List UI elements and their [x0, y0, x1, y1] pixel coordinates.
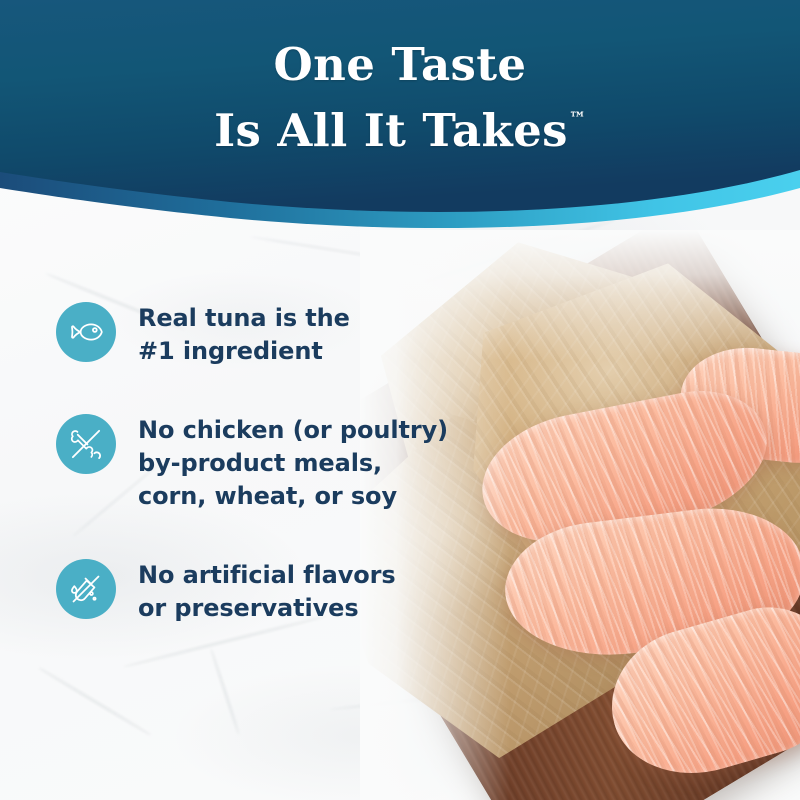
feature-item-no-artificial: No artificial flavors or preservatives [56, 557, 456, 625]
feature-line: by-product meals, [138, 447, 448, 480]
fish-icon [56, 302, 116, 362]
feature-item-no-byproduct: No chicken (or poultry) by-product meals… [56, 412, 456, 513]
no-test-tube-icon-glyph [66, 569, 106, 609]
product-feature-infographic: One Taste Is All It Takes™ Real tuna is … [0, 0, 800, 800]
fish-icon-glyph [66, 312, 106, 352]
feature-line: No artificial flavors [138, 559, 396, 592]
trademark-symbol: ™ [569, 109, 586, 129]
page-title: One Taste Is All It Takes™ [0, 38, 800, 158]
marble-vein [210, 648, 240, 734]
headline-line-2: Is All It Takes [214, 104, 568, 157]
feature-line: No chicken (or poultry) [138, 414, 448, 447]
feature-line: corn, wheat, or soy [138, 480, 448, 513]
feature-text: No chicken (or poultry) by-product meals… [138, 412, 448, 513]
header-banner: One Taste Is All It Takes™ [0, 0, 800, 240]
no-bone-icon [56, 414, 116, 474]
no-bone-icon-glyph [65, 423, 107, 465]
feature-item-real-tuna: Real tuna is the #1 ingredient [56, 300, 456, 368]
headline-line-1: One Taste [0, 38, 800, 92]
feature-text: No artificial flavors or preservatives [138, 557, 396, 625]
feature-line: Real tuna is the [138, 302, 350, 335]
feature-line: #1 ingredient [138, 335, 350, 368]
feature-list: Real tuna is the #1 ingredient No chicke… [56, 300, 456, 625]
marble-vein [39, 667, 152, 736]
headline-line-2-wrap: Is All It Takes™ [0, 92, 800, 158]
no-test-tube-icon [56, 559, 116, 619]
feature-text: Real tuna is the #1 ingredient [138, 300, 350, 368]
feature-line: or preservatives [138, 592, 396, 625]
